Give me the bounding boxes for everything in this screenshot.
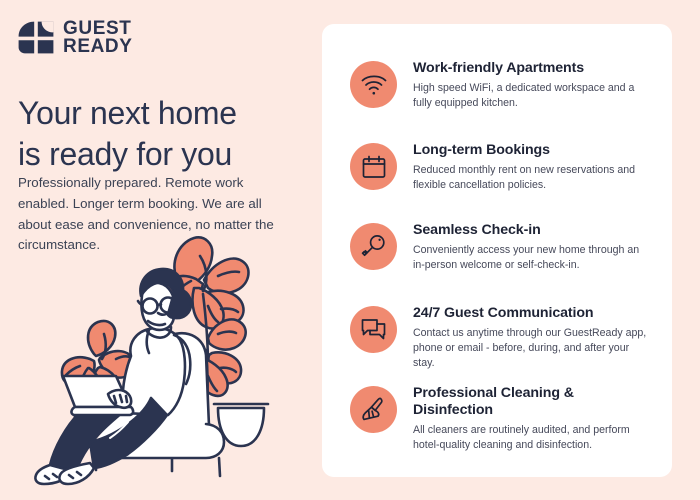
feature-text: Work-friendly Apartments High speed WiFi… <box>413 59 650 111</box>
feature-title: Long-term Bookings <box>413 142 650 159</box>
headline-line-1: Your next home <box>18 93 308 134</box>
brand-logo[interactable]: GUEST READY <box>18 20 133 56</box>
feature-text: 24/7 Guest Communication Contact us anyt… <box>413 304 650 371</box>
chat-bubbles-icon <box>350 306 397 353</box>
headline-line-2: is ready for you <box>18 134 308 175</box>
feature-title: 24/7 Guest Communication <box>413 305 650 322</box>
list-item[interactable]: Long-term Bookings Reduced monthly rent … <box>350 141 650 193</box>
broom-icon <box>350 386 397 433</box>
feature-text: Professional Cleaning & Disinfection All… <box>413 384 650 453</box>
calendar-icon <box>350 143 397 190</box>
wifi-icon <box>350 61 397 108</box>
list-item[interactable]: Work-friendly Apartments High speed WiFi… <box>350 59 650 111</box>
brand-wordmark: GUEST READY <box>63 20 133 56</box>
feature-title: Seamless Check-in <box>413 222 650 239</box>
hero-illustration <box>28 226 318 488</box>
feature-title: Work-friendly Apartments <box>413 60 650 77</box>
feature-title: Professional Cleaning & Disinfection <box>413 385 650 419</box>
hero-column: GUEST READY Your next home is ready for … <box>0 0 320 500</box>
list-item[interactable]: 24/7 Guest Communication Contact us anyt… <box>350 304 650 371</box>
feature-description: High speed WiFi, a dedicated workspace a… <box>413 81 650 111</box>
feature-list: Work-friendly Apartments High speed WiFi… <box>322 24 672 477</box>
woman-with-laptop-illustration-icon <box>28 226 318 488</box>
feature-description: Conveniently access your new home throug… <box>413 243 650 273</box>
feature-description: All cleaners are routinely audited, and … <box>413 423 650 453</box>
features-card: Work-friendly Apartments High speed WiFi… <box>322 24 672 477</box>
key-icon <box>350 223 397 270</box>
feature-text: Long-term Bookings Reduced monthly rent … <box>413 141 650 193</box>
list-item[interactable]: Seamless Check-in Conveniently access yo… <box>350 221 650 273</box>
guestready-quadrant-logo-icon <box>18 21 54 54</box>
promotional-banner: GUEST READY Your next home is ready for … <box>0 0 700 500</box>
feature-text: Seamless Check-in Conveniently access yo… <box>413 221 650 273</box>
brand-name-line2: READY <box>63 38 133 56</box>
feature-description: Contact us anytime through our GuestRead… <box>413 326 650 371</box>
page-title: Your next home is ready for you <box>18 93 308 175</box>
feature-description: Reduced monthly rent on new reservations… <box>413 163 650 193</box>
list-item[interactable]: Professional Cleaning & Disinfection All… <box>350 384 650 453</box>
